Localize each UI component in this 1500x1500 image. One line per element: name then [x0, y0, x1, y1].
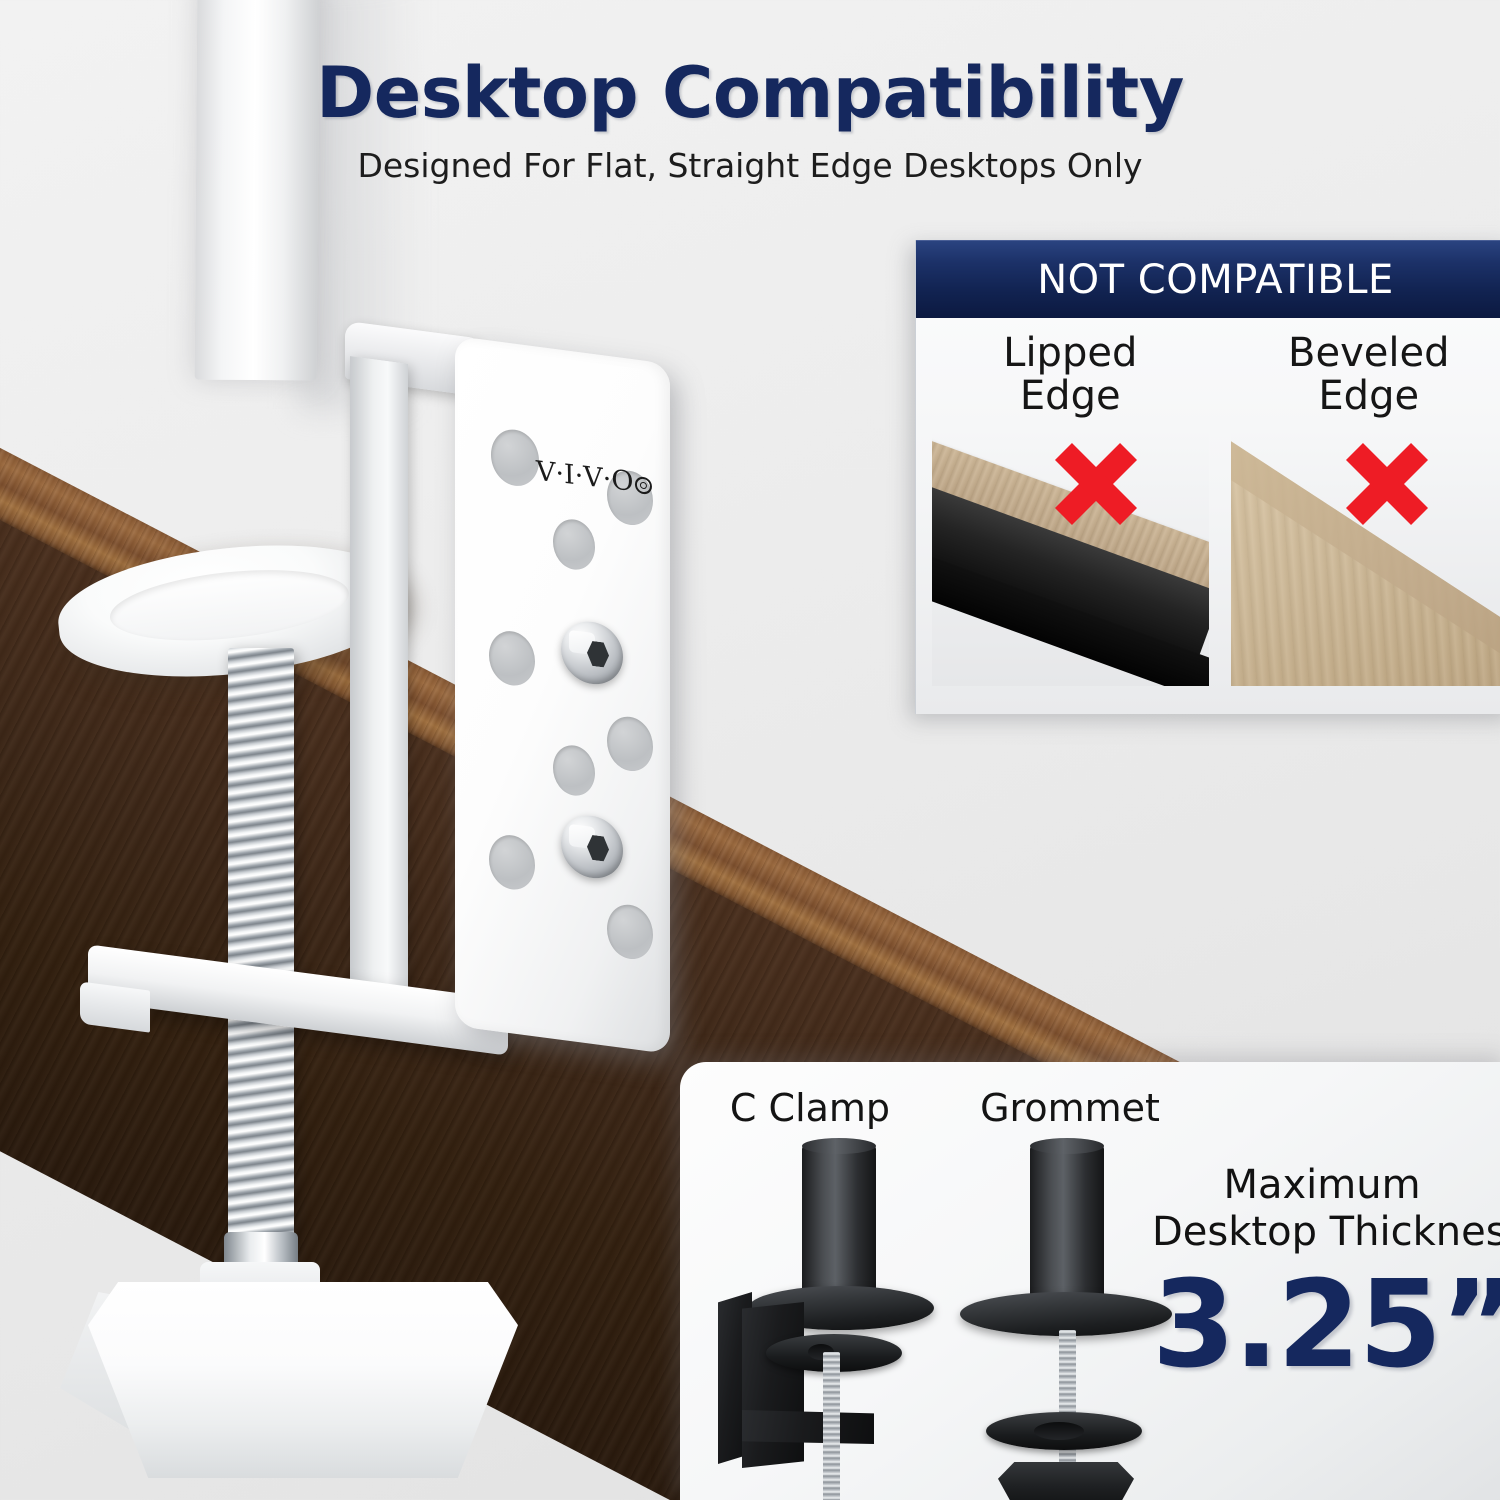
- not-compatible-header: NOT COMPATIBLE: [916, 240, 1500, 318]
- not-compatible-item-beveled: Beveled Edge: [1231, 332, 1500, 686]
- grommet-pole: [1030, 1144, 1104, 1302]
- c-clamp-body: [742, 1302, 804, 1468]
- plate-hole: [491, 427, 539, 489]
- max-thickness-value: 3.25”: [1152, 1266, 1492, 1386]
- clamp-pad-inner: [107, 560, 353, 651]
- mount-option-labels: C Clamp Grommet: [680, 1086, 1200, 1130]
- mount-options-panel: C Clamp Grommet Maximum Desktop Thicknes…: [680, 1062, 1500, 1500]
- mount-option-label-grommet: Grommet: [940, 1086, 1200, 1130]
- grommet-pole-cap: [1030, 1138, 1104, 1154]
- grommet-washer-hole: [1034, 1422, 1084, 1440]
- clamp-threaded-screw: [228, 648, 294, 1260]
- c-clamp-lower-jaw: [742, 1410, 874, 1444]
- c-clamp-illustration: [710, 1144, 960, 1474]
- hex-bolt: [561, 618, 623, 688]
- plate-hole: [607, 714, 653, 774]
- vesa-mounting-plate: [455, 336, 670, 1054]
- not-compatible-panel: NOT COMPATIBLE Lipped Edge Beveled Edge: [915, 240, 1500, 714]
- max-thickness-line1: Maximum: [1152, 1162, 1492, 1209]
- lipped-edge-illustration: [932, 428, 1209, 686]
- c-clamp-threaded-rod: [823, 1352, 840, 1500]
- bolt-highlight: [569, 630, 595, 655]
- max-thickness-callout: Maximum Desktop Thickness: 3.25”: [1152, 1162, 1492, 1386]
- plate-hole: [489, 628, 535, 688]
- page-title: Desktop Compatibility: [0, 52, 1500, 134]
- page-subtitle: Designed For Flat, Straight Edge Desktop…: [0, 146, 1500, 185]
- not-compatible-header-label: NOT COMPATIBLE: [1037, 257, 1394, 303]
- grommet-knob: [998, 1462, 1134, 1500]
- hex-bolt: [561, 812, 623, 882]
- not-compatible-items: Lipped Edge Beveled Edge: [916, 318, 1500, 686]
- plate-hole: [553, 743, 595, 799]
- bolt-highlight: [569, 824, 595, 849]
- mount-option-label-c-clamp: C Clamp: [680, 1086, 940, 1130]
- beveled-edge-label-line1: Beveled: [1231, 332, 1500, 375]
- plate-hole: [607, 902, 653, 962]
- red-x-icon: [1050, 438, 1142, 530]
- c-clamp-pole: [802, 1144, 876, 1302]
- red-x-icon: [1341, 438, 1433, 530]
- c-clamp-pole-cap: [802, 1138, 876, 1154]
- plate-hole: [489, 832, 535, 892]
- max-thickness-line2: Desktop Thickness:: [1152, 1209, 1492, 1256]
- lipped-edge-label-line1: Lipped: [932, 332, 1209, 375]
- plate-hole: [553, 517, 595, 573]
- beveled-edge-label-line2: Edge: [1231, 375, 1500, 418]
- header: Desktop Compatibility Designed For Flat,…: [0, 0, 1500, 205]
- clamp-tightening-knob: [88, 1282, 518, 1478]
- lipped-edge-label: Lipped Edge: [932, 332, 1209, 418]
- beveled-edge-illustration: [1231, 428, 1500, 686]
- beveled-edge-label: Beveled Edge: [1231, 332, 1500, 418]
- lipped-edge-label-line2: Edge: [932, 375, 1209, 418]
- clamp-bracket-side: [350, 356, 408, 1034]
- grommet-threaded-rod: [1059, 1330, 1076, 1472]
- not-compatible-item-lipped: Lipped Edge: [932, 332, 1209, 686]
